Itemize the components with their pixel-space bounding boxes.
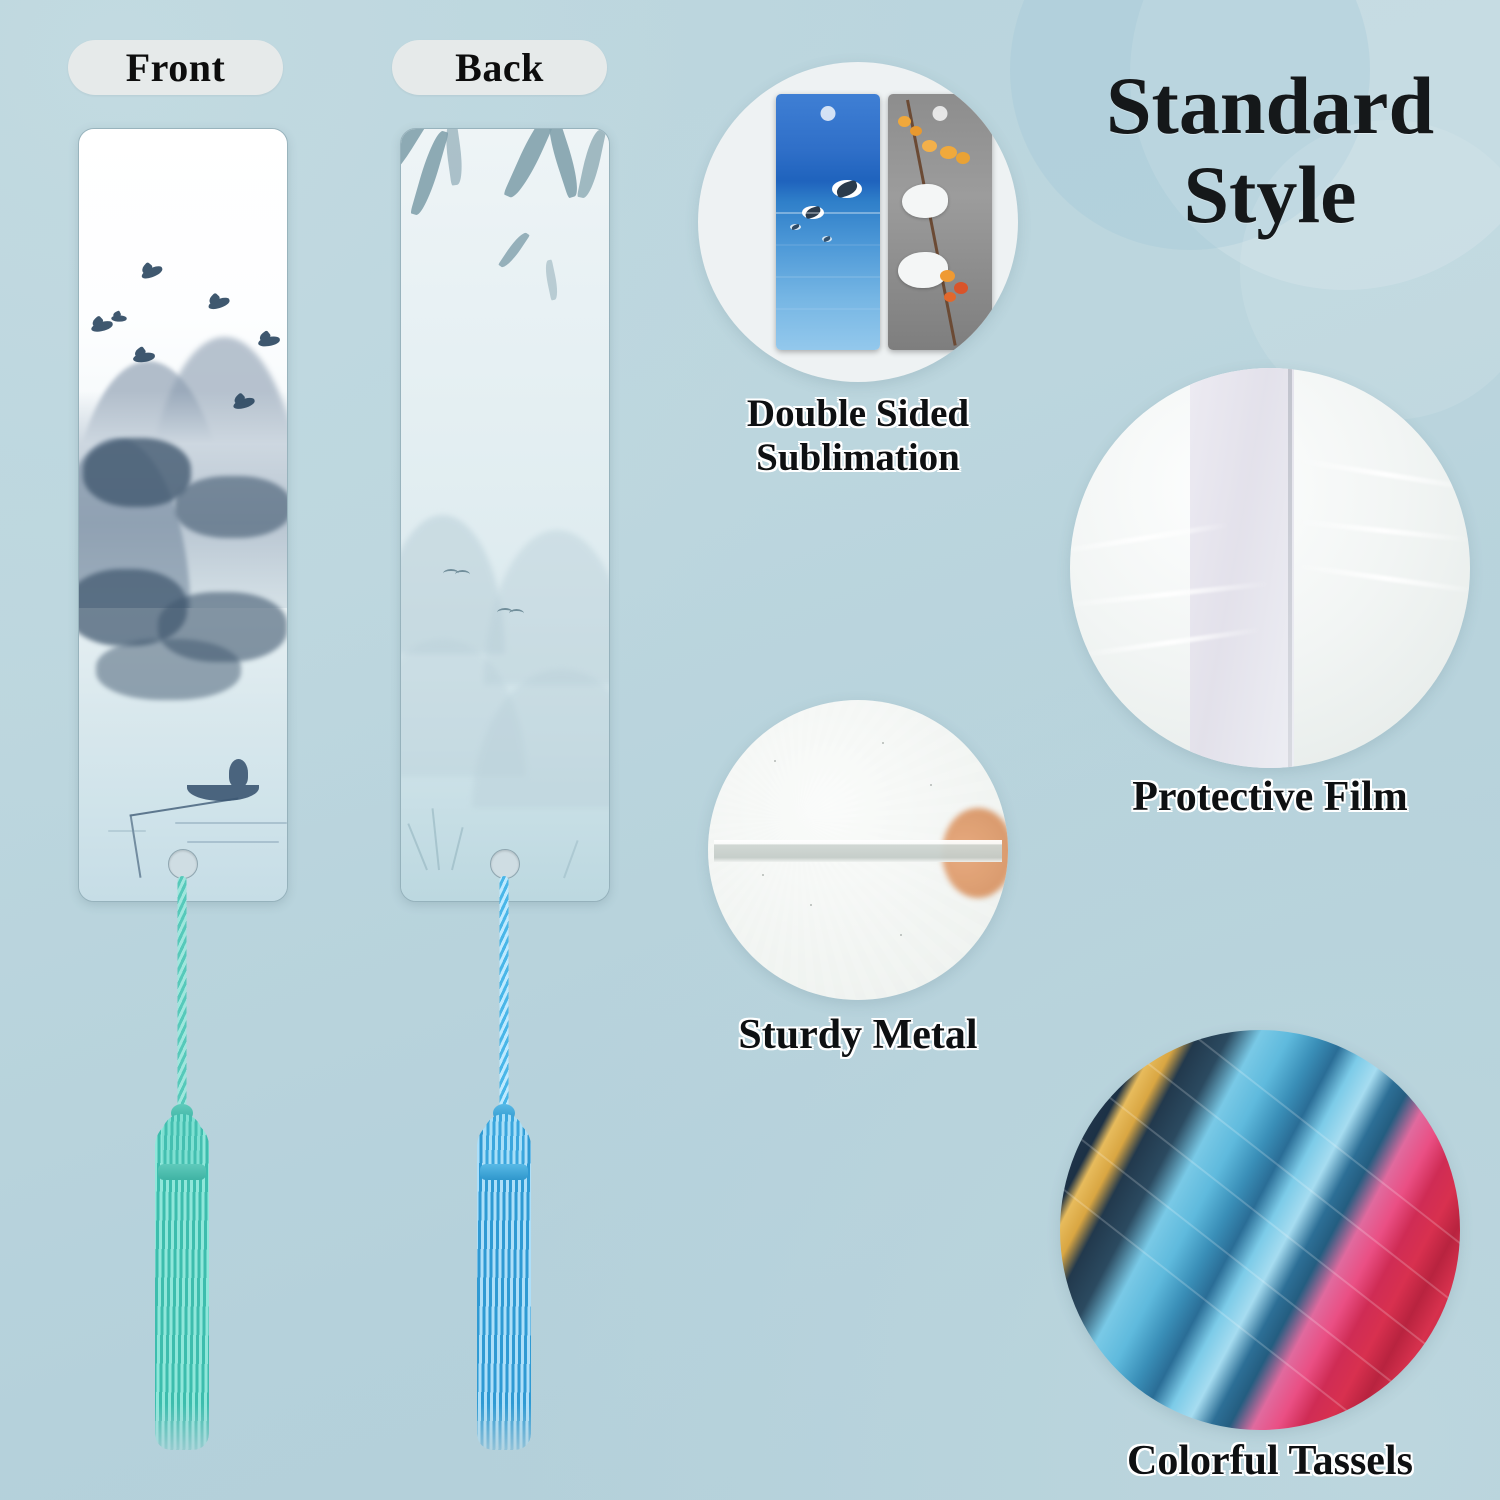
feature-caption-colorful-tassels: Colorful Tassels [1060, 1438, 1480, 1485]
texture-speck [774, 760, 776, 762]
film-crease [1294, 519, 1470, 542]
bookmark-back-artwork [401, 129, 609, 901]
tassel-head [484, 1114, 524, 1170]
seagull [790, 224, 801, 230]
caption-line: Sturdy Metal [708, 1012, 1008, 1059]
film-edge [1288, 368, 1292, 768]
seagull [822, 236, 832, 242]
caption-line: Colorful Tassels [1060, 1438, 1480, 1485]
caption-line: Protective Film [1070, 774, 1470, 821]
sample-hole [933, 106, 948, 121]
tassel-cord [500, 876, 509, 1112]
film-crease [1295, 458, 1470, 492]
artwork-ink-stroke [96, 639, 242, 701]
tassel-band [158, 1164, 206, 1180]
bookmark-back [400, 128, 610, 902]
seagull [832, 180, 862, 198]
feature-caption-protective-film: Protective Film [1070, 774, 1470, 821]
water-wave [776, 308, 880, 310]
label-pill-back-text: Back [455, 44, 544, 91]
label-pill-back: Back [392, 40, 607, 95]
film-strip [1190, 368, 1294, 768]
caption-line: Sublimation [698, 436, 1018, 480]
thread-highlight [1060, 1030, 1460, 1336]
texture-speck [900, 934, 902, 936]
water-wave [776, 244, 880, 246]
berry [956, 152, 970, 164]
feature-image-double-sided-sublimation [698, 62, 1018, 382]
berry [954, 282, 968, 294]
tassel-band [480, 1164, 528, 1180]
caption-line: Double Sided [698, 392, 1018, 436]
snow-bird [902, 184, 948, 218]
berry [910, 126, 922, 136]
artwork-ink-stroke [175, 476, 287, 538]
artwork-ripple [108, 830, 145, 832]
water-wave [776, 276, 880, 278]
sample-hole [821, 106, 836, 121]
texture-speck [882, 742, 884, 744]
artwork-bird [497, 608, 513, 617]
berry [898, 116, 911, 127]
snow-bird [898, 252, 948, 288]
label-pill-front-text: Front [126, 44, 226, 91]
bookmark-back-hole [490, 849, 520, 879]
sample-bookmark-seagulls [776, 94, 880, 350]
berry-branch [906, 100, 957, 346]
texture-speck [810, 904, 812, 906]
page-title: Standard Style [1060, 62, 1480, 239]
artwork-ripple [187, 841, 279, 843]
artwork-ripple [175, 822, 287, 824]
film-crease [1295, 563, 1470, 594]
texture-speck [762, 874, 764, 876]
bookmark-front-artwork [79, 129, 287, 901]
berry [940, 146, 957, 159]
water-wave [776, 212, 880, 214]
feature-image-protective-film [1070, 368, 1470, 768]
sample-bookmark-snowbirds [888, 94, 992, 350]
metal-sheet-edge [714, 840, 1002, 862]
feature-caption-sturdy-metal: Sturdy Metal [708, 1012, 1008, 1059]
feature-image-colorful-tassels [1060, 1030, 1460, 1430]
artwork-ink-stroke [83, 438, 191, 507]
label-pill-front: Front [68, 40, 283, 95]
artwork-bird [443, 569, 459, 578]
berry [944, 292, 956, 302]
bookmark-front [78, 128, 288, 902]
feature-caption-double-sided-sublimation: Double Sided Sublimation [698, 392, 1018, 479]
feature-image-sturdy-metal [708, 700, 1008, 1000]
bookmark-front-hole [168, 849, 198, 879]
berry [922, 140, 937, 152]
tassel-cord [178, 876, 187, 1112]
infographic-canvas: Front Back [0, 0, 1500, 1500]
texture-speck [930, 784, 932, 786]
berry [940, 270, 955, 282]
tassel-head [162, 1114, 202, 1170]
